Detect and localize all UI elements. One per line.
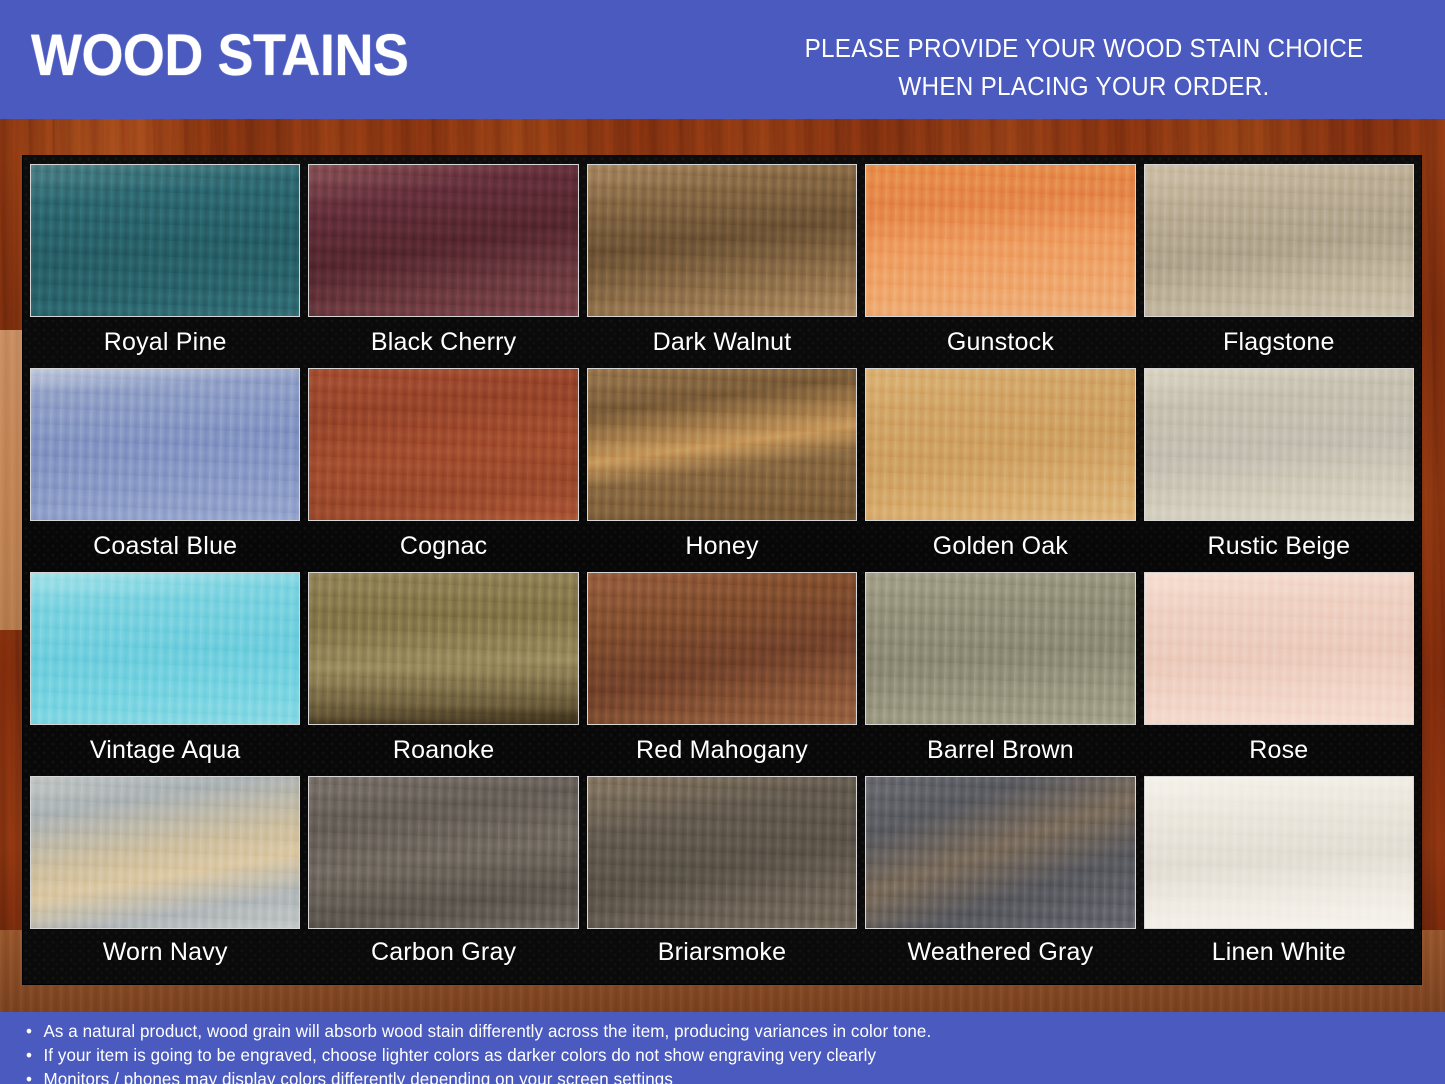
stain-swatch[interactable] [865, 164, 1135, 317]
header-instruction-line-2: WHEN PLACING YOUR ORDER. [761, 68, 1407, 106]
stain-name-label: Worn Navy [30, 929, 300, 973]
wood-grain-texture-secondary [588, 369, 856, 520]
stain-swatch[interactable] [1144, 572, 1414, 725]
stain-swatch[interactable] [1144, 776, 1414, 929]
bullet-icon: • [26, 1019, 43, 1043]
stain-swatch[interactable] [30, 776, 300, 929]
wood-grain-texture-secondary [309, 777, 577, 928]
stain-name-label: Rustic Beige [1144, 521, 1414, 568]
page-title: WOOD STAINS [31, 25, 408, 87]
stain-cell[interactable]: Roanoke [308, 572, 578, 776]
stain-row: Vintage AquaRoanokeRed MahoganyBarrel Br… [30, 572, 1414, 776]
stain-swatch[interactable] [30, 368, 300, 521]
footer-notes: •As a natural product, wood grain will a… [0, 1012, 1445, 1084]
stain-name-label: Royal Pine [30, 317, 300, 364]
stain-cell[interactable]: Dark Walnut [587, 164, 857, 368]
stain-cell[interactable]: Carbon Gray [308, 776, 578, 976]
wood-grain-texture-secondary [31, 369, 299, 520]
stain-name-label: Golden Oak [865, 521, 1135, 568]
stain-swatch[interactable] [865, 368, 1135, 521]
wood-grain-texture-secondary [588, 573, 856, 724]
stain-name-label: Briarsmoke [587, 929, 857, 973]
stain-cell[interactable]: Briarsmoke [587, 776, 857, 976]
stain-swatch[interactable] [587, 572, 857, 725]
bullet-icon: • [26, 1067, 43, 1084]
stain-name-label: Vintage Aqua [30, 725, 300, 772]
stain-cell[interactable]: Red Mahogany [587, 572, 857, 776]
stain-name-label: Barrel Brown [865, 725, 1135, 772]
stain-cell[interactable]: Black Cherry [308, 164, 578, 368]
wood-grain-texture-secondary [866, 573, 1134, 724]
wood-grain-texture-secondary [1145, 573, 1413, 724]
stain-cell[interactable]: Cognac [308, 368, 578, 572]
stain-swatch[interactable] [587, 776, 857, 929]
stain-swatch[interactable] [587, 164, 857, 317]
stain-cell[interactable]: Royal Pine [30, 164, 300, 368]
stain-name-label: Linen White [1144, 929, 1414, 973]
stain-swatch[interactable] [308, 368, 578, 521]
stain-cell[interactable]: Coastal Blue [30, 368, 300, 572]
stain-swatch[interactable] [30, 572, 300, 725]
wood-grain-texture-secondary [1145, 369, 1413, 520]
footer-note: •If your item is going to be engraved, c… [26, 1043, 1402, 1067]
bullet-icon: • [26, 1043, 43, 1067]
wood-grain-texture-secondary [1145, 165, 1413, 316]
stain-name-label: Flagstone [1144, 317, 1414, 364]
stain-cell[interactable]: Weathered Gray [865, 776, 1135, 976]
stain-cell[interactable]: Rose [1144, 572, 1414, 776]
stain-name-label: Roanoke [308, 725, 578, 772]
stain-swatch-grid: Royal PineBlack CherryDark WalnutGunstoc… [22, 155, 1422, 985]
wood-grain-texture-secondary [866, 165, 1134, 316]
wood-grain-texture-secondary [31, 777, 299, 928]
stain-swatch[interactable] [1144, 164, 1414, 317]
stain-name-label: Rose [1144, 725, 1414, 772]
stain-swatch[interactable] [308, 572, 578, 725]
stain-swatch[interactable] [308, 164, 578, 317]
header-instruction: PLEASE PROVIDE YOUR WOOD STAIN CHOICE WH… [761, 30, 1407, 106]
wood-grain-texture-secondary [309, 573, 577, 724]
stain-name-label: Weathered Gray [865, 929, 1135, 973]
footer-note-text: Monitors / phones may display colors dif… [43, 1069, 672, 1084]
wood-grain-texture-secondary [1145, 777, 1413, 928]
stain-cell[interactable]: Worn Navy [30, 776, 300, 976]
wood-grain-texture-secondary [588, 165, 856, 316]
stain-name-label: Coastal Blue [30, 521, 300, 568]
stain-name-label: Dark Walnut [587, 317, 857, 364]
stain-cell[interactable]: Gunstock [865, 164, 1135, 368]
wood-grain-texture-secondary [31, 573, 299, 724]
stain-row: Coastal BlueCognacHoneyGolden OakRustic … [30, 368, 1414, 572]
stain-name-label: Carbon Gray [308, 929, 578, 973]
stain-cell[interactable]: Golden Oak [865, 368, 1135, 572]
stain-swatch[interactable] [30, 164, 300, 317]
stain-swatch[interactable] [865, 776, 1135, 929]
wood-grain-texture-secondary [866, 369, 1134, 520]
stain-cell[interactable]: Linen White [1144, 776, 1414, 976]
footer-note-text: As a natural product, wood grain will ab… [43, 1021, 931, 1041]
stain-row: Royal PineBlack CherryDark WalnutGunstoc… [30, 164, 1414, 368]
stain-cell[interactable]: Barrel Brown [865, 572, 1135, 776]
stain-swatch[interactable] [587, 368, 857, 521]
stain-cell[interactable]: Flagstone [1144, 164, 1414, 368]
wood-grain-texture-secondary [866, 777, 1134, 928]
wood-grain-texture-secondary [309, 165, 577, 316]
wood-grain-texture-secondary [31, 165, 299, 316]
stain-swatch[interactable] [1144, 368, 1414, 521]
stain-name-label: Cognac [308, 521, 578, 568]
stain-swatch[interactable] [308, 776, 578, 929]
stain-name-label: Honey [587, 521, 857, 568]
stain-swatch[interactable] [865, 572, 1135, 725]
footer-note: •As a natural product, wood grain will a… [26, 1019, 1402, 1043]
footer-note: •Monitors / phones may display colors di… [26, 1067, 1402, 1084]
wood-grain-texture-secondary [588, 777, 856, 928]
stain-name-label: Red Mahogany [587, 725, 857, 772]
stain-row: Worn NavyCarbon GrayBriarsmokeWeathered … [30, 776, 1414, 976]
wood-grain-texture-secondary [309, 369, 577, 520]
footer-note-text: If your item is going to be engraved, ch… [43, 1045, 876, 1065]
stain-cell[interactable]: Vintage Aqua [30, 572, 300, 776]
stain-cell[interactable]: Honey [587, 368, 857, 572]
header-banner: WOOD STAINS PLEASE PROVIDE YOUR WOOD STA… [0, 0, 1445, 119]
stain-name-label: Gunstock [865, 317, 1135, 364]
header-instruction-line-1: PLEASE PROVIDE YOUR WOOD STAIN CHOICE [761, 30, 1407, 68]
stain-name-label: Black Cherry [308, 317, 578, 364]
stain-cell[interactable]: Rustic Beige [1144, 368, 1414, 572]
